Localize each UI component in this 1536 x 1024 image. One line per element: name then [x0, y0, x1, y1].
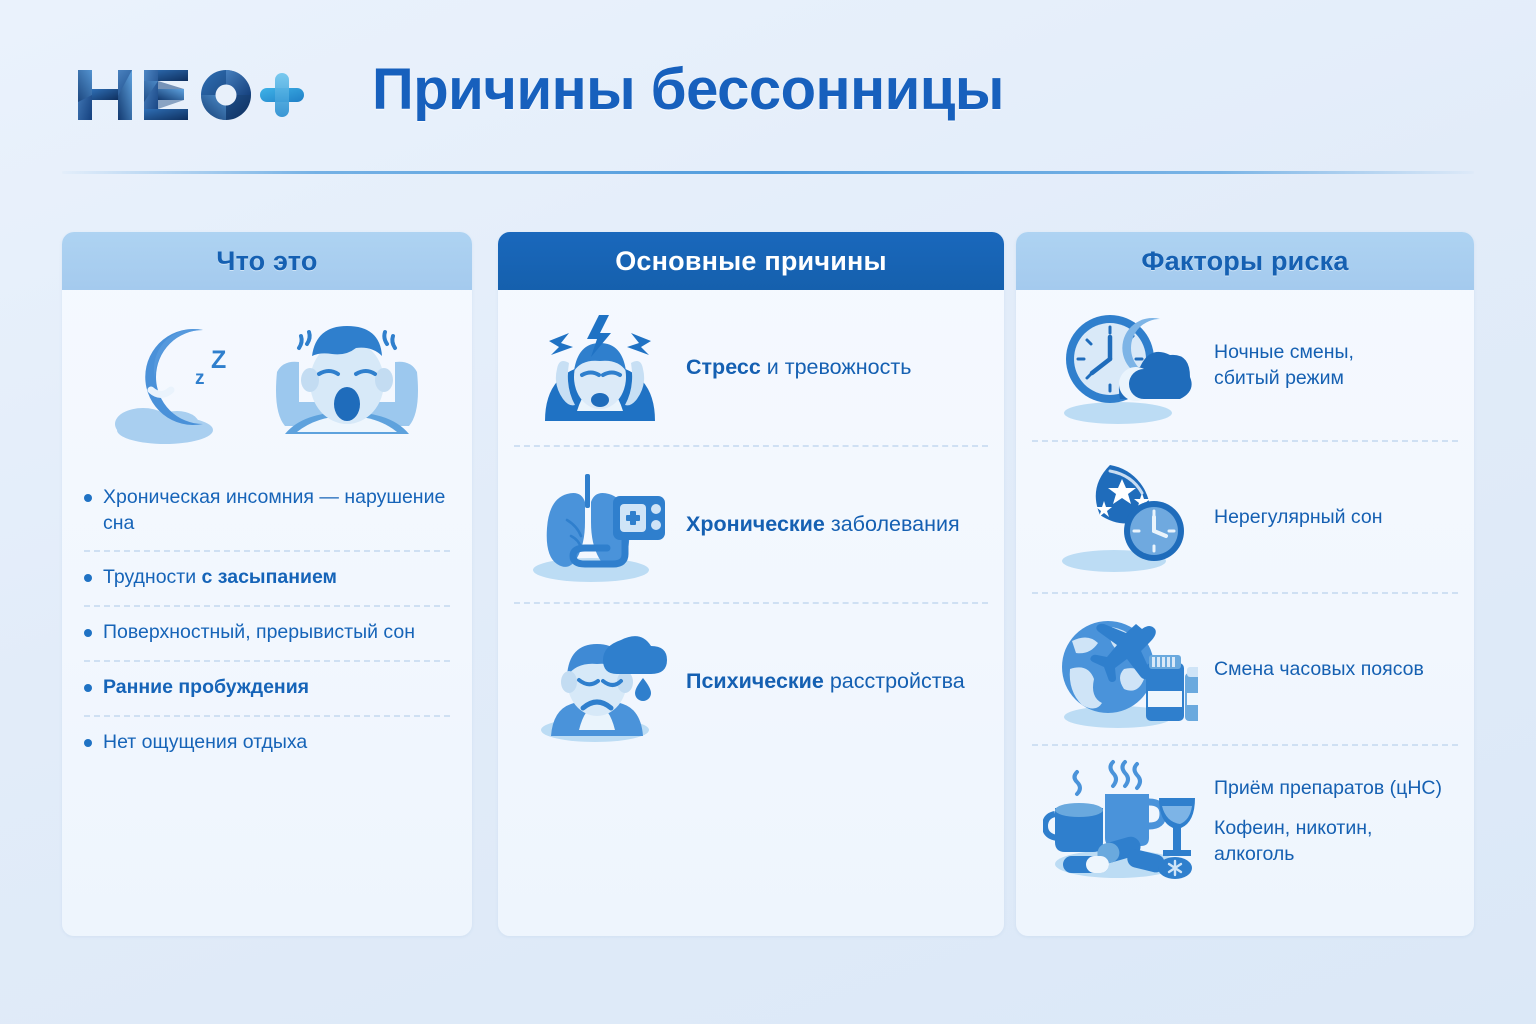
header-divider: [62, 171, 1474, 174]
risk-row-irregular-sleep: Нерегулярный сон: [1032, 442, 1458, 594]
page-header: Причины бессонницы: [0, 0, 1536, 172]
list-item-label: Нет ощущения отдыха: [103, 730, 307, 756]
cause-icon-cell: [514, 462, 686, 587]
card-body-what-is-it: Z z: [62, 290, 472, 936]
list-item-label: Трудности с засыпанием: [103, 565, 337, 591]
cause-icon-cell: [514, 618, 686, 746]
risk-label-line-2: сбитый режим: [1214, 365, 1354, 391]
risk-label-line-2: Кофеин, никотин,: [1214, 815, 1442, 841]
cause-label-mental-disorders: Психические расстройства: [686, 667, 965, 696]
risk-icon-cell: [1032, 303, 1214, 427]
crescent-moon-stars-clock-icon: [1048, 455, 1198, 579]
cause-label-regular: заболевания: [825, 512, 960, 536]
stressed-head-lightning-icon: [525, 303, 675, 433]
risk-label-timezone-change: Смена часовых поясов: [1214, 656, 1424, 682]
cause-row-mental-disorders: Психические расстройства: [514, 604, 988, 759]
card-main-causes: Основные причины: [498, 232, 1004, 936]
risk-icon-cell: [1032, 607, 1214, 731]
what-is-it-illustration: Z z: [62, 290, 472, 462]
card-header-main-causes: Основные причины: [498, 232, 1004, 290]
list-item: Ранние пробуждения: [84, 662, 450, 717]
lungs-blood-pressure-monitor-icon: [525, 462, 675, 587]
list-item: Поверхностный, прерывистый сон: [84, 607, 450, 662]
list-item-label: Ранние пробуждения: [103, 675, 309, 701]
risk-row-night-shifts: Ночные смены, сбитый режим: [1032, 290, 1458, 442]
risk-row-timezone-change: Смена часовых поясов: [1032, 594, 1458, 746]
card-header-risk-factors: Факторы риска: [1016, 232, 1474, 290]
risk-label-irregular-sleep: Нерегулярный сон: [1214, 504, 1383, 530]
risk-row-substances: Приём препаратов (цНС) Кофеин, никотин, …: [1032, 746, 1458, 896]
svg-text:Z: Z: [211, 346, 226, 374]
risk-label-sub: Кофеин, никотин, алкоголь: [1214, 815, 1442, 867]
page-title: Причины бессонницы: [372, 56, 1004, 123]
bullet-dot-icon: [84, 629, 92, 637]
cause-label-bold: Хронические: [686, 512, 825, 536]
cause-label-bold: Стресс: [686, 355, 761, 379]
cause-label-chronic-disease: Хронические заболевания: [686, 510, 960, 539]
risk-label-line-1: Ночные смены,: [1214, 339, 1354, 365]
sad-person-rain-cloud-icon: [525, 618, 675, 746]
clock-moon-night-shift-icon: [1048, 303, 1198, 427]
list-item-prefix: Трудности: [103, 566, 202, 588]
list-item-label: Поверхностный, прерывистый сон: [103, 620, 415, 646]
list-item-bold: Ранние пробуждения: [103, 676, 309, 698]
what-is-it-list: Хроническая инсомния — нарушение сна Тру…: [62, 462, 472, 769]
cause-label-regular: расстройства: [824, 669, 965, 693]
globe-airplane-pills-icon: [1048, 607, 1198, 731]
main-causes-rows: Стресс и тревожность: [498, 290, 1004, 759]
risk-label-line-1: Смена часовых поясов: [1214, 656, 1424, 682]
bullet-dot-icon: [84, 684, 92, 692]
cause-label-bold: Психические: [686, 669, 824, 693]
card-what-is-it: Что это Z z: [62, 232, 472, 936]
risk-label-substances: Приём препаратов (цНС) Кофеин, никотин, …: [1214, 775, 1442, 867]
risk-label-line-1: Приём препаратов (цНС): [1214, 775, 1442, 801]
bullet-dot-icon: [84, 494, 92, 502]
coffee-wine-pills-icon: [1043, 756, 1203, 886]
svg-text:z: z: [195, 368, 205, 389]
risk-label-line-1: Нерегулярный сон: [1214, 504, 1383, 530]
list-item: Нет ощущения отдыха: [84, 717, 450, 770]
neo-plus-logo-icon: [74, 62, 306, 128]
card-body-main-causes: Стресс и тревожность: [498, 290, 1004, 936]
sleeping-moon-icon: Z z: [107, 312, 257, 448]
columns-container: Что это Z z: [0, 232, 1536, 938]
card-header-what-is-it: Что это: [62, 232, 472, 290]
bullet-dot-icon: [84, 574, 92, 582]
cause-label-regular: и тревожность: [761, 355, 912, 379]
cause-row-chronic-disease: Хронические заболевания: [514, 447, 988, 604]
list-item: Трудности с засыпанием: [84, 552, 450, 607]
risk-label-night-shifts: Ночные смены, сбитый режим: [1214, 339, 1354, 391]
cause-row-stress: Стресс и тревожность: [514, 290, 988, 447]
card-body-risk-factors: Ночные смены, сбитый режим: [1016, 290, 1474, 936]
yawning-person-in-bed-icon: [267, 312, 427, 448]
bullet-dot-icon: [84, 739, 92, 747]
risk-label-line-3: алкоголь: [1214, 841, 1442, 867]
cause-label-stress: Стресс и тревожность: [686, 353, 911, 382]
list-item-bold: с засыпанием: [202, 566, 337, 588]
risk-icon-cell: [1032, 756, 1214, 886]
cause-icon-cell: [514, 303, 686, 433]
list-item: Хроническая инсомния — нарушение сна: [84, 472, 450, 552]
brand-logo[interactable]: [74, 62, 306, 128]
risk-factors-rows: Ночные смены, сбитый режим: [1016, 290, 1474, 896]
list-item-label: Хроническая инсомния — нарушение сна: [103, 485, 450, 536]
risk-icon-cell: [1032, 455, 1214, 579]
card-risk-factors: Факторы риска: [1016, 232, 1474, 936]
